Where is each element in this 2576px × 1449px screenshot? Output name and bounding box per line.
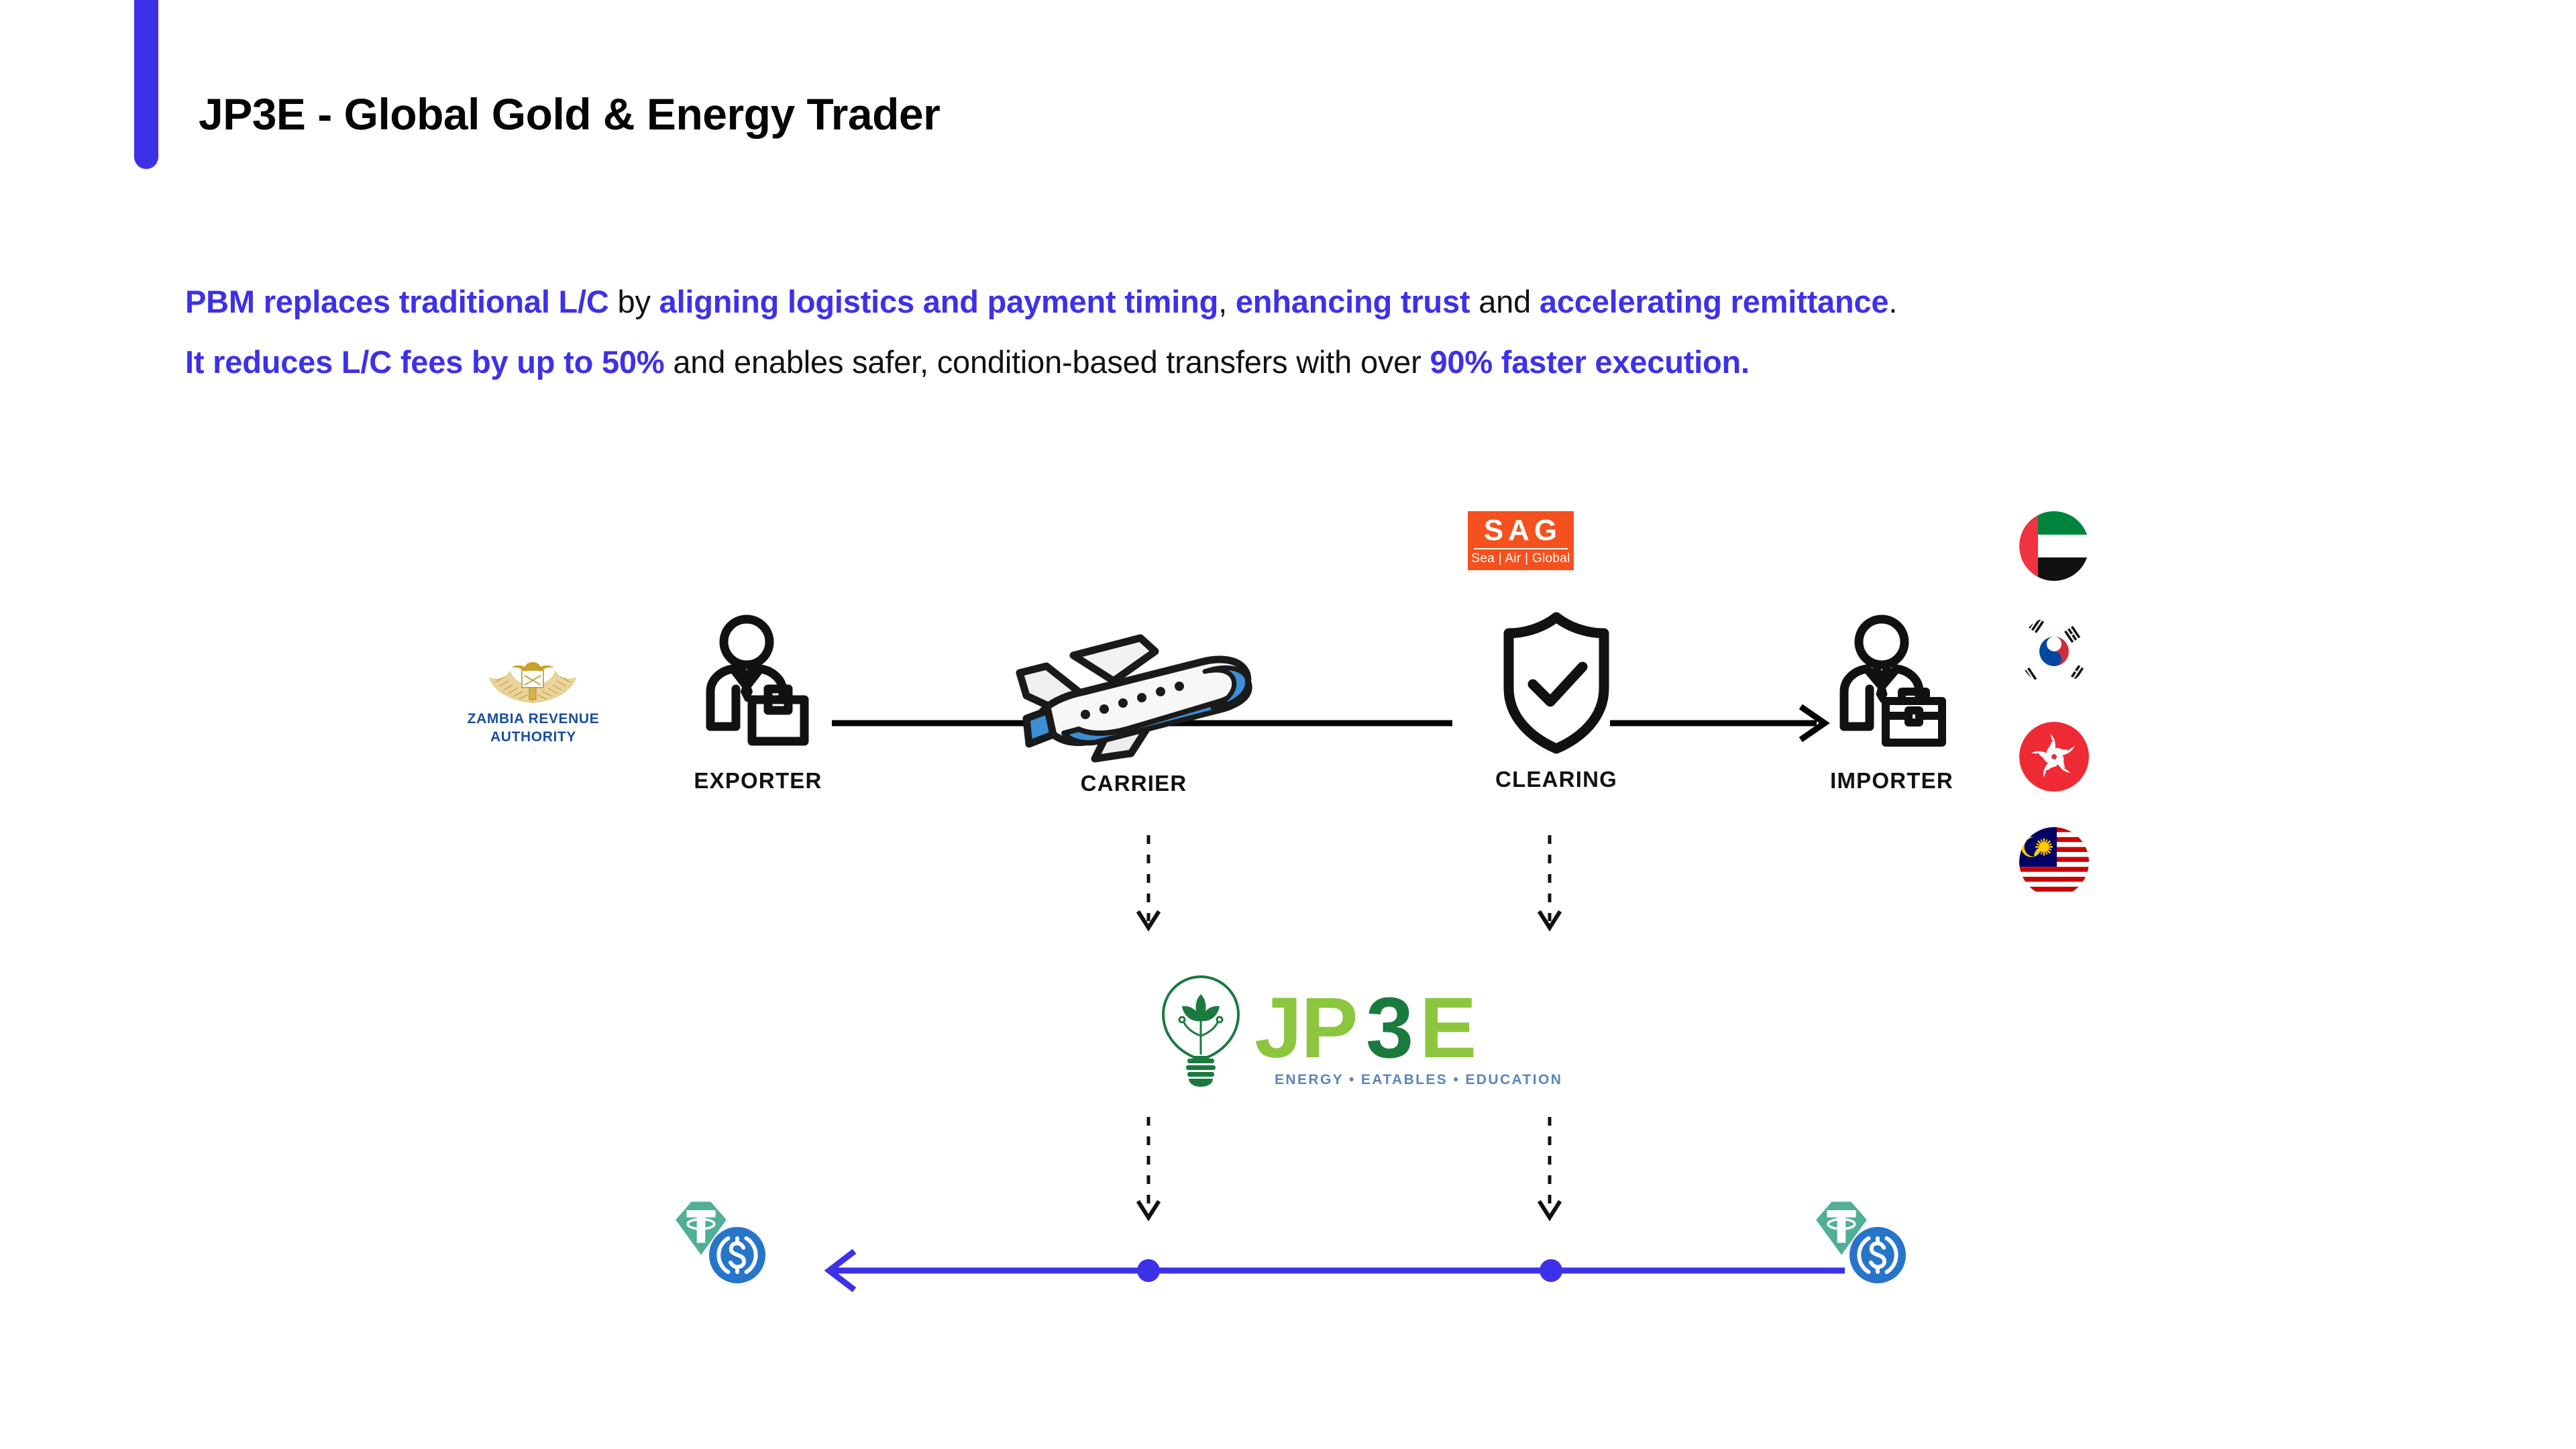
- node-clearing: CLEARING: [1469, 609, 1644, 792]
- flag-malaysia: [2019, 827, 2089, 897]
- node-label-carrier: CARRIER: [973, 771, 1295, 796]
- payment-node-left: [1137, 1259, 1160, 1282]
- jp3e-wordmark-e: E: [1419, 980, 1477, 1076]
- flag-hong-kong: [2019, 722, 2089, 792]
- businessperson-briefcase-icon: [1833, 614, 1951, 768]
- jp3e-wordmark-3: 3: [1366, 980, 1413, 1076]
- dashed-connector-jp3e-to-payment-left: [1134, 1117, 1187, 1238]
- trade-flow-diagram: ZAMBIA REVENUE AUTHORITY SAG Sea | Air |…: [0, 0, 2576, 1449]
- node-label-exporter: EXPORTER: [671, 768, 845, 794]
- airplane-icon: [1000, 634, 1268, 768]
- shield-check-icon: [1498, 609, 1615, 767]
- usdc-icon: [1849, 1227, 1906, 1283]
- flag-uae: [2019, 511, 2089, 581]
- node-importer: IMPORTER: [1805, 614, 1979, 794]
- sag-logo: SAG Sea | Air | Global: [1468, 511, 1574, 570]
- node-carrier: CARRIER: [973, 634, 1295, 796]
- jp3e-wordmark-j-p: JP: [1254, 980, 1357, 1076]
- node-exporter: EXPORTER: [671, 614, 845, 794]
- dashed-connector-carrier-to-jp3e: [1134, 835, 1187, 949]
- dashed-connector-clearing-to-jp3e: [1535, 835, 1589, 949]
- jp3e-tagline: ENERGY • EATABLES • EDUCATION: [1275, 1072, 1562, 1088]
- usdc-icon: [709, 1227, 765, 1283]
- payment-flow-line: [812, 1248, 1858, 1301]
- jp3e-logo: JP 3 E ENERGY • EATABLES • EDUCATION: [1152, 971, 1528, 1099]
- zambia-revenue-authority-logo: ZAMBIA REVENUE AUTHORITY: [463, 661, 604, 745]
- sag-logo-divider: [1474, 548, 1568, 549]
- sag-logo-tagline: Sea | Air | Global: [1468, 551, 1574, 570]
- sag-logo-wordmark: SAG: [1468, 511, 1574, 547]
- businessperson-briefcase-icon: [701, 614, 815, 768]
- flag-south-korea: [2019, 616, 2089, 686]
- payment-node-right: [1540, 1259, 1562, 1282]
- zra-logo-line-1: ZAMBIA REVENUE: [463, 710, 604, 727]
- zra-logo-line-2: AUTHORITY: [463, 729, 604, 745]
- node-label-importer: IMPORTER: [1805, 768, 1979, 794]
- dashed-connector-jp3e-to-payment-right: [1535, 1117, 1589, 1238]
- node-label-clearing: CLEARING: [1469, 767, 1644, 792]
- destination-flags: [2019, 511, 2089, 932]
- zra-crest-icon: [463, 661, 604, 709]
